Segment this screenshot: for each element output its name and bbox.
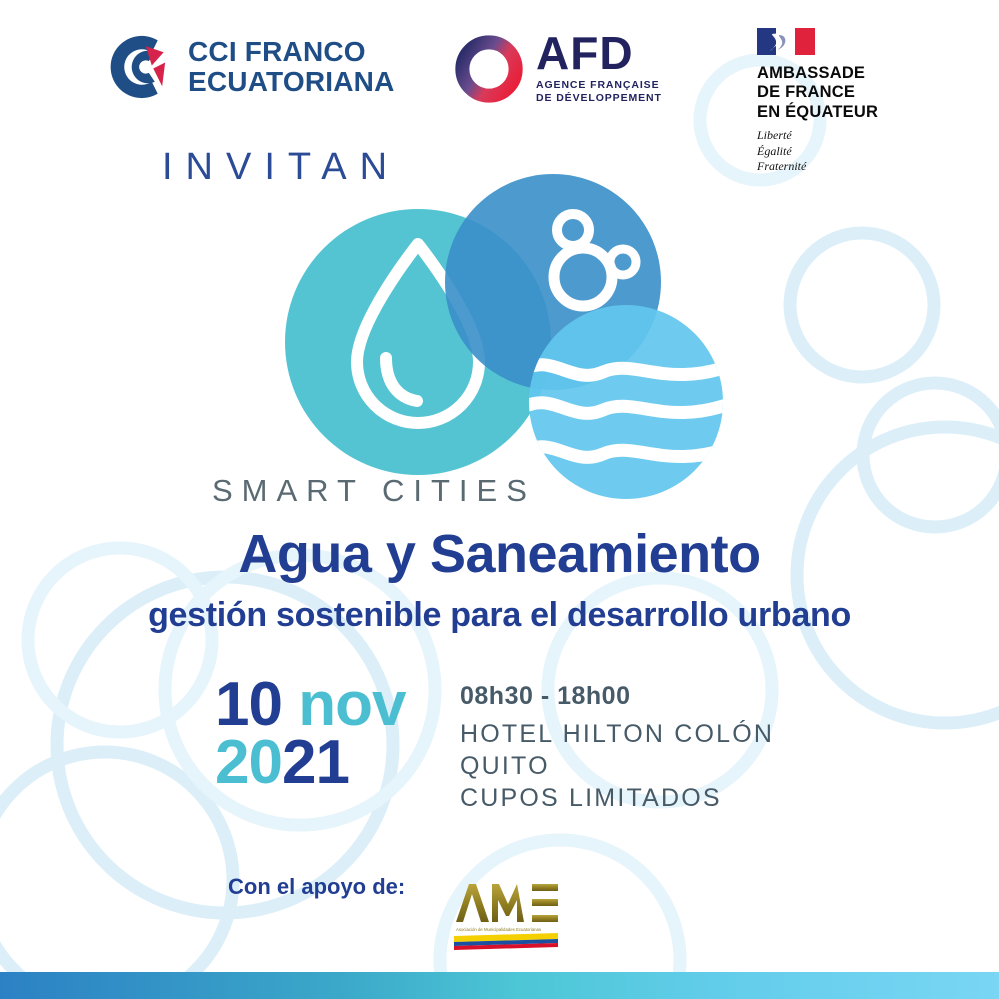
event-date-line-2: 2021 xyxy=(215,734,405,792)
event-date-line-1: 10 nov xyxy=(215,676,405,734)
logo-ambassade-de-france: AMBASSADE DE FRANCE EN ÉQUATEUR Liberté … xyxy=(757,28,932,174)
afd-wordmark: AFD AGENCE FRANÇAISE DE DÉVELOPPEMENT xyxy=(536,32,662,106)
afd-acronym: AFD xyxy=(536,32,662,76)
embassy-line-1: AMBASSADE xyxy=(757,64,932,83)
event-details: 08h30 - 18h00 HOTEL HILTON COLÓN QUITO C… xyxy=(460,682,774,814)
eyebrow-smart-cities: SMART CITIES xyxy=(212,473,536,509)
motto-egalite: Égalité xyxy=(757,144,932,159)
french-republic-flag-icon xyxy=(757,28,815,55)
embassy-line-2: DE FRANCE xyxy=(757,83,932,102)
afd-sub-line-2: DE DÉVELOPPEMENT xyxy=(536,92,662,105)
cci-line-2: ECUATORIANA xyxy=(188,67,395,97)
cci-wordmark: CCI FRANCO ECUATORIANA xyxy=(188,37,395,97)
bottom-gradient-bar xyxy=(0,972,999,999)
cci-line-1: CCI FRANCO xyxy=(188,37,395,67)
support-label: Con el apoyo de: xyxy=(228,874,405,900)
logo-ame: Asociación de Municipalidades Ecuatorian… xyxy=(440,876,568,956)
cci-mark-icon xyxy=(100,30,174,104)
afd-subtitle: AGENCE FRANÇAISE DE DÉVELOPPEMENT xyxy=(536,79,662,106)
embassy-line-3: EN ÉQUATEUR xyxy=(757,103,932,122)
event-time: 08h30 - 18h00 xyxy=(460,682,774,711)
event-year-second-half: 21 xyxy=(282,728,349,797)
afd-sub-line-1: AGENCE FRANÇAISE xyxy=(536,79,662,92)
partner-logos-row: CCI FRANCO ECUATORIANA AFD xyxy=(0,0,999,200)
embassy-wordmark: AMBASSADE DE FRANCE EN ÉQUATEUR xyxy=(757,64,932,122)
water-sanitation-graphic xyxy=(283,172,743,502)
ame-acronym-mark xyxy=(456,884,558,922)
page-title: Agua y Saneamiento xyxy=(0,523,999,585)
logo-cci-franco-ecuatoriana: CCI FRANCO ECUATORIANA xyxy=(100,30,395,104)
ame-tagline: Asociación de Municipalidades Ecuatorian… xyxy=(456,927,541,932)
motto-liberte: Liberté xyxy=(757,128,932,143)
logo-afd: AFD AGENCE FRANÇAISE DE DÉVELOPPEMENT xyxy=(452,32,662,106)
republic-motto: Liberté Égalité Fraternité xyxy=(757,128,932,173)
page-subtitle: gestión sostenible para el desarrollo ur… xyxy=(0,596,999,635)
event-date: 10 nov 2021 xyxy=(215,676,405,793)
invitan-heading: INVITAN xyxy=(162,146,400,189)
ecuador-flag-ribbon xyxy=(454,933,558,950)
motto-fraternite: Fraternité xyxy=(757,159,932,174)
event-capacity-note: CUPOS LIMITADOS xyxy=(460,782,774,814)
event-venue: HOTEL HILTON COLÓN xyxy=(460,718,774,750)
event-poster: CCI FRANCO ECUATORIANA AFD xyxy=(0,0,999,999)
event-city: QUITO xyxy=(460,750,774,782)
event-year-first-half: 20 xyxy=(215,728,282,797)
afd-ring-icon xyxy=(452,32,526,106)
